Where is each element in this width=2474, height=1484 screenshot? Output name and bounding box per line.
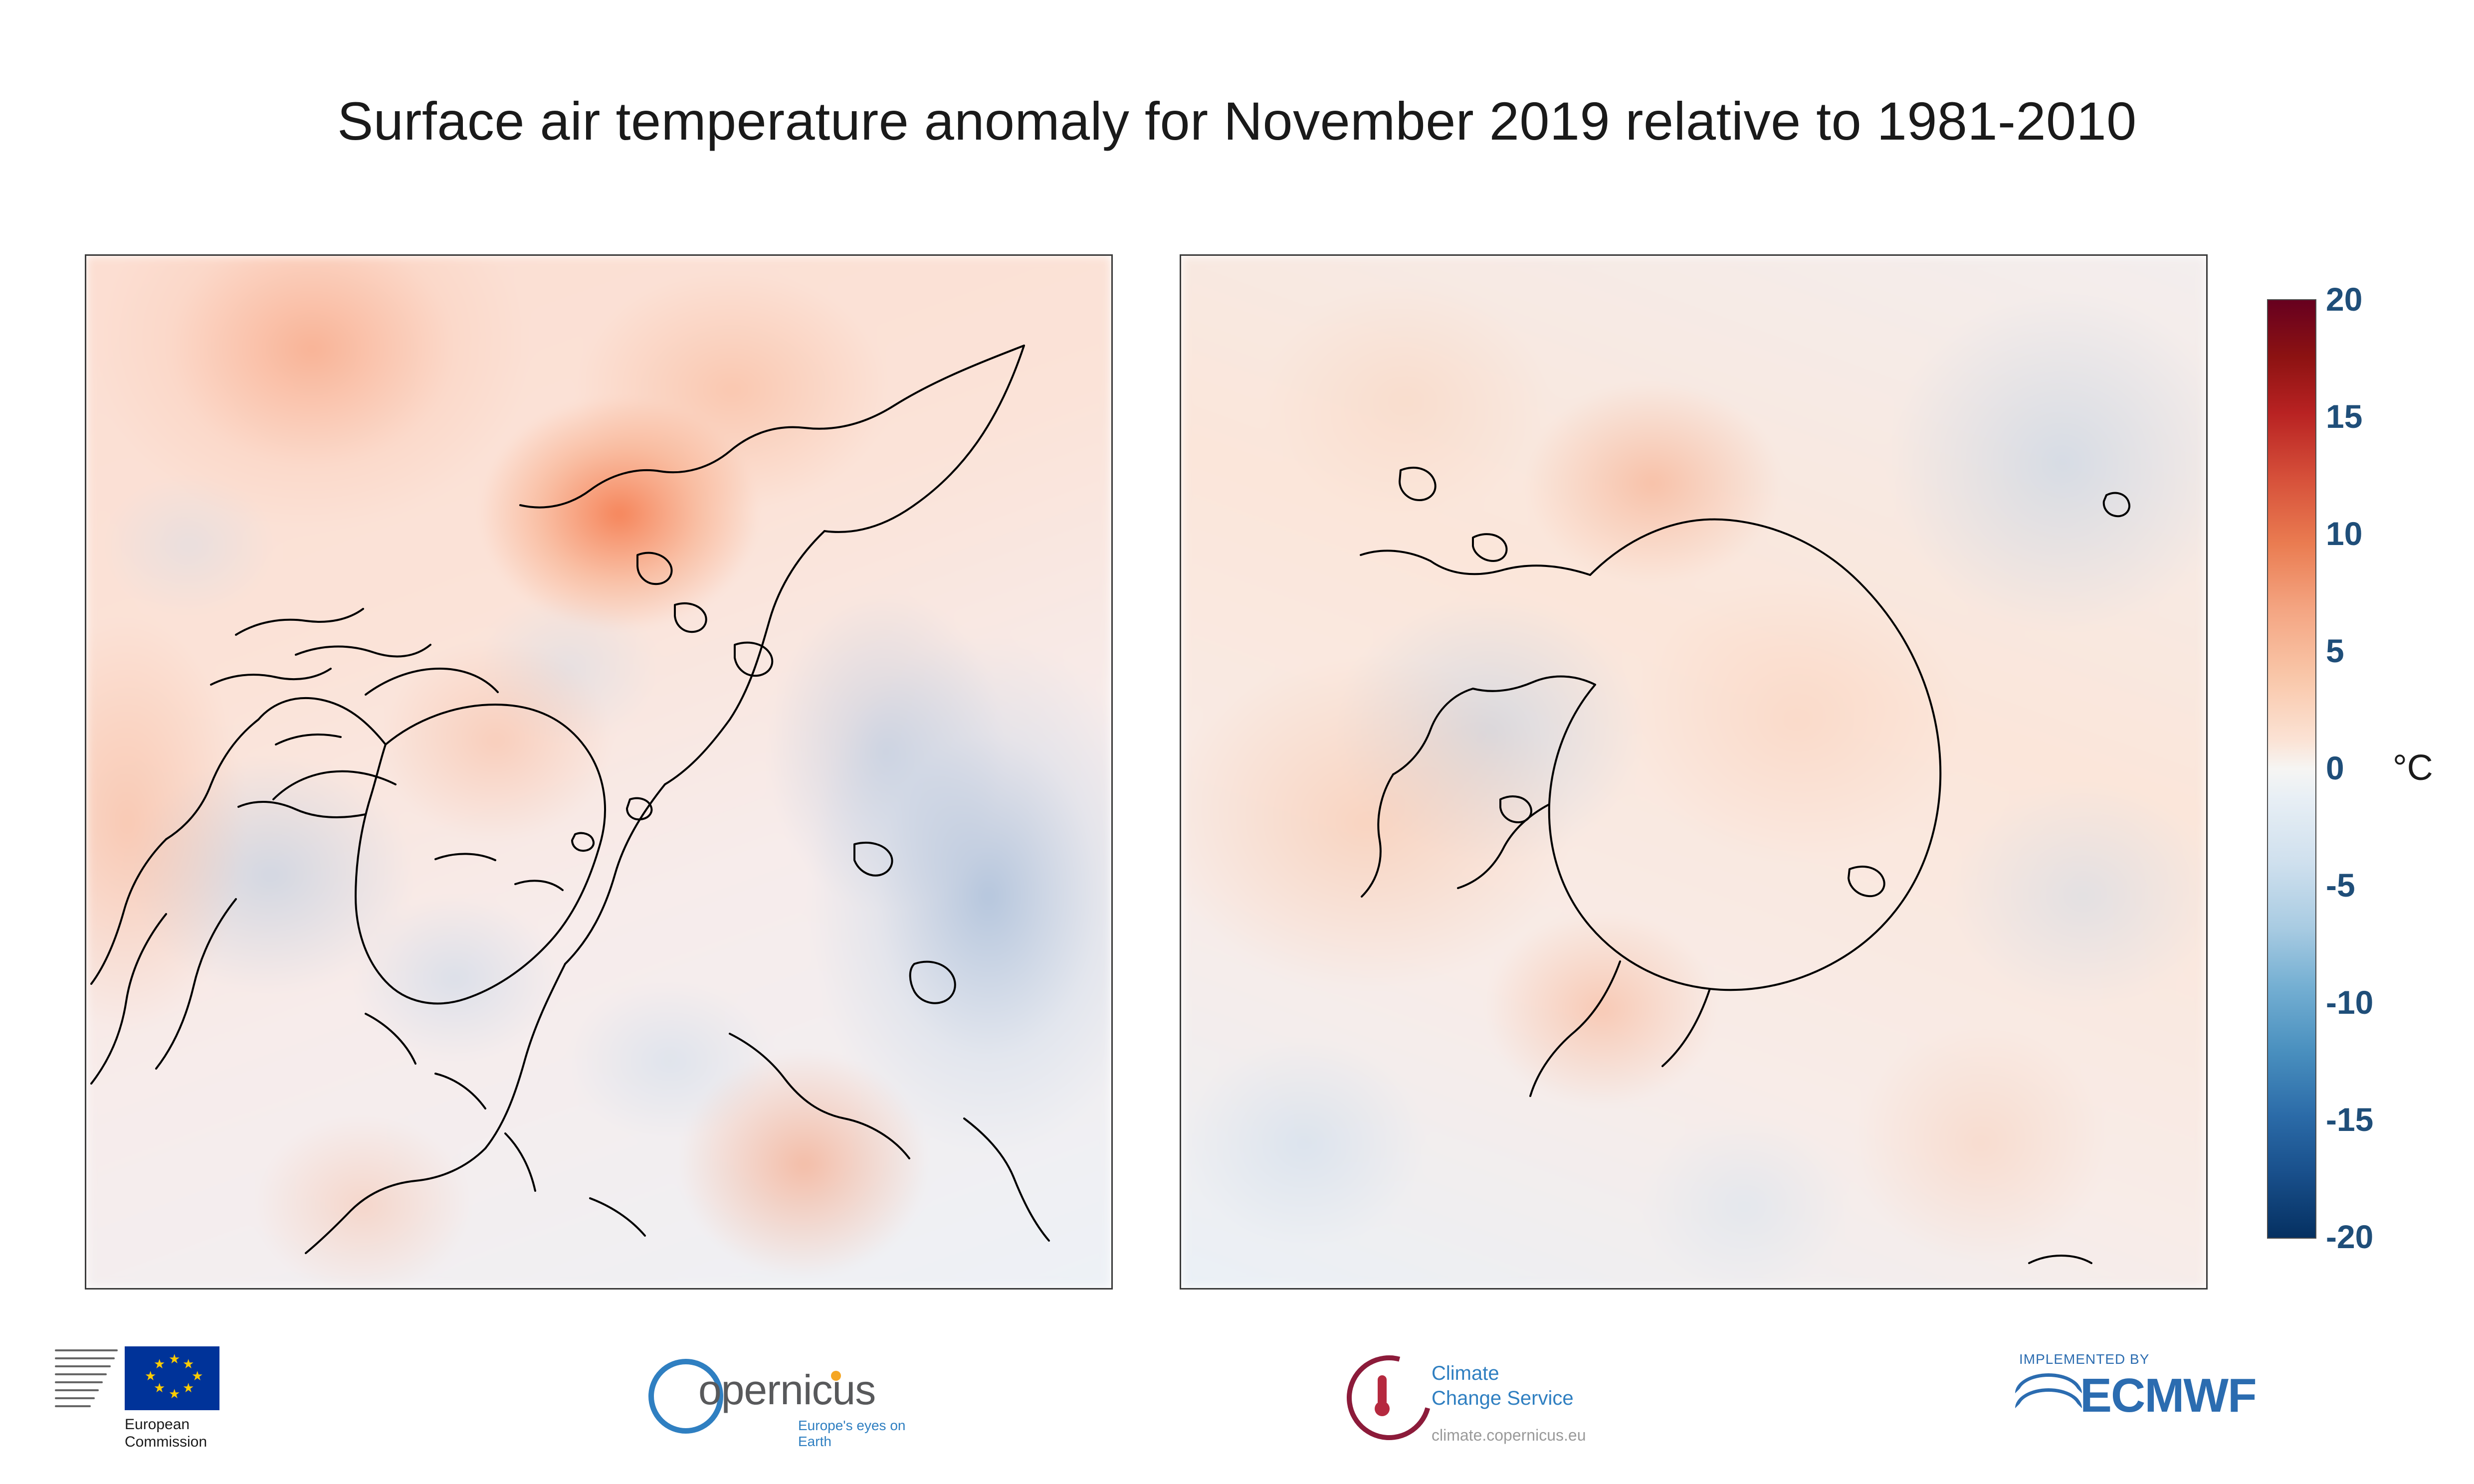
c3s-logo: Climate Change Service climate.copernicu… (1347, 1351, 1656, 1466)
c3s-arc-icon (1331, 1340, 1447, 1456)
colorbar: 20 15 10 5 0 -5 -10 -15 -20 °C (2267, 299, 2432, 1237)
arctic-coastline-overlay (86, 256, 1111, 1288)
colorbar-tick-5: 5 (2326, 632, 2344, 670)
eu-caption-line1: European (125, 1416, 207, 1434)
colorbar-tick-m10: -10 (2326, 983, 2373, 1021)
colorbar-gradient (2267, 299, 2316, 1239)
colorbar-tick-20: 20 (2326, 280, 2362, 318)
eu-caption-line2: Commission (125, 1434, 207, 1451)
eu-logo-caption: European Commission (125, 1416, 207, 1451)
ecmwf-logo: IMPLEMENTED BY ECMWF (2010, 1351, 2319, 1466)
c3s-line1: Climate (1432, 1362, 1499, 1385)
antarctic-coastline-overlay (1181, 256, 2206, 1288)
arctic-map-panel (85, 254, 1113, 1290)
colorbar-unit-label: °C (2393, 747, 2433, 788)
colorbar-tick-10: 10 (2326, 515, 2362, 553)
colorbar-tick-m15: -15 (2326, 1101, 2373, 1138)
colorbar-tick-m20: -20 (2326, 1218, 2373, 1256)
ecmwf-wordmark: ECMWF (2080, 1368, 2256, 1423)
copernicus-wordmark: opernicus (698, 1366, 875, 1414)
c3s-line2: Change Service (1432, 1387, 1574, 1410)
footer-logo-bar: ★ ★ ★ ★ ★ ★ ★ ★ European Commission oper… (0, 1326, 2474, 1484)
antarctic-map-panel (1180, 254, 2208, 1290)
ecmwf-waves-icon (2015, 1373, 2075, 1412)
eu-flag-lines-icon (55, 1346, 120, 1410)
colorbar-tick-0: 0 (2326, 749, 2344, 787)
colorbar-tick-15: 15 (2326, 397, 2362, 435)
c3s-url: climate.copernicus.eu (1432, 1426, 1586, 1445)
copernicus-tagline: Europe's eyes on Earth (798, 1418, 928, 1450)
page-title: Surface air temperature anomaly for Nove… (0, 90, 2474, 152)
eu-flag-icon: ★ ★ ★ ★ ★ ★ ★ ★ (125, 1346, 219, 1410)
copernicus-logo: opernicus Europe's eyes on Earth (648, 1354, 928, 1464)
ecmwf-implemented-by-label: IMPLEMENTED BY (2019, 1351, 2149, 1367)
thermometer-bulb-icon (1375, 1401, 1390, 1416)
copernicus-dot-icon (831, 1371, 841, 1381)
european-commission-logo: ★ ★ ★ ★ ★ ★ ★ ★ European Commission (55, 1341, 264, 1481)
colorbar-tick-m5: -5 (2326, 866, 2355, 904)
